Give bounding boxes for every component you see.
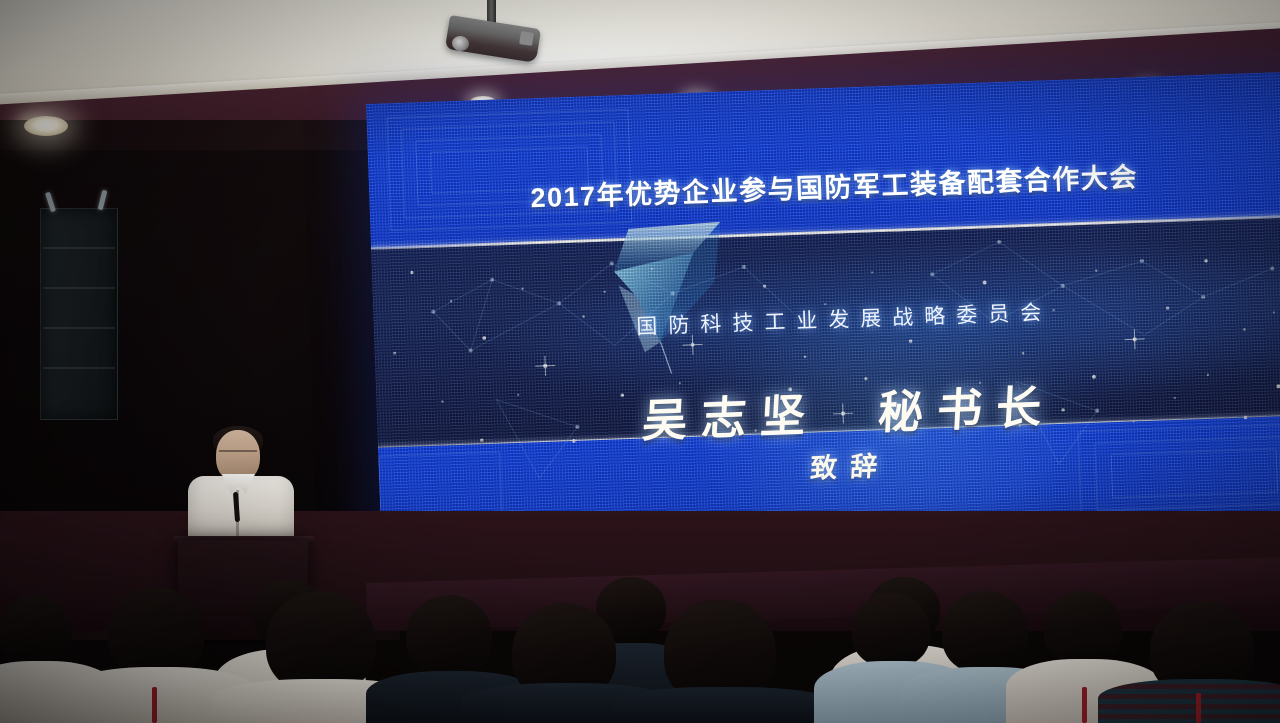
lanyard — [1196, 693, 1201, 723]
conference-photo: 2017年优势企业参与国防军工装备配套合作大会 国防科技工业发展战略委员会 吴志… — [0, 0, 1280, 723]
projector-vent — [519, 31, 534, 46]
presenter — [186, 430, 296, 550]
audience-head — [0, 595, 72, 669]
audience-head — [1044, 591, 1122, 665]
audience-head — [108, 587, 204, 679]
lanyard — [1082, 687, 1087, 723]
loudspeaker-icon — [40, 208, 118, 420]
audience-shoulders — [612, 687, 836, 723]
glasses-icon — [219, 450, 257, 460]
audience-head — [406, 595, 492, 675]
downlight-icon — [24, 116, 68, 136]
audience-shoulders — [1098, 679, 1280, 723]
led-screen-surface: 2017年优势企业参与国防军工装备配套合作大会 国防科技工业发展战略委员会 吴志… — [366, 72, 1280, 560]
lanyard — [152, 687, 157, 723]
audience-head — [852, 593, 930, 667]
seated-audience — [0, 548, 1280, 723]
audience-head — [266, 591, 376, 693]
led-screen: 2017年优势企业参与国防军工装备配套合作大会 国防科技工业发展战略委员会 吴志… — [366, 72, 1280, 560]
audience-head — [942, 591, 1028, 673]
